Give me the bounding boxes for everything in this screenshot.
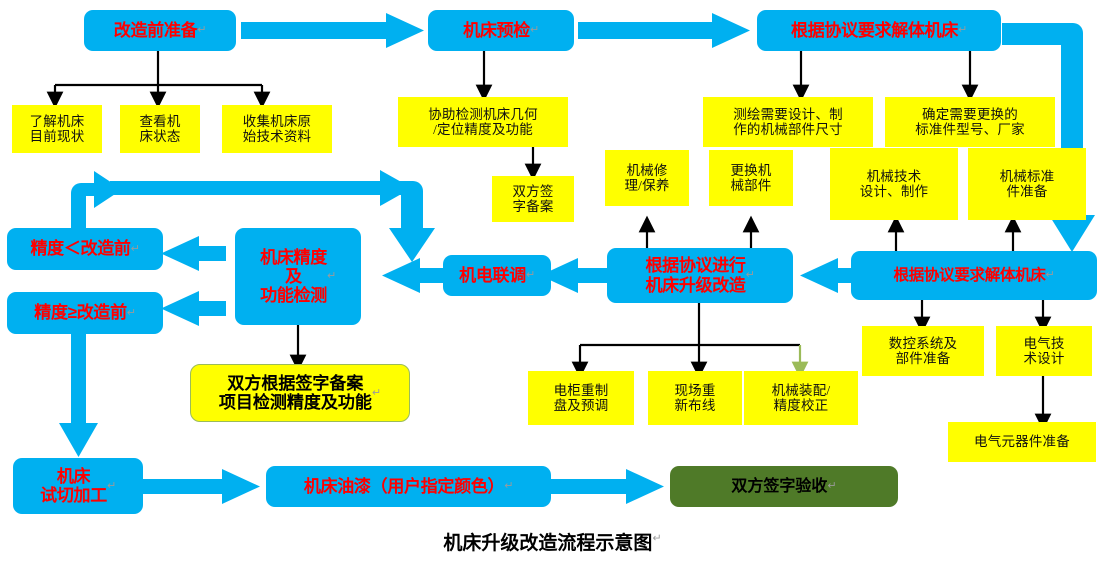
arrow-loop-down-elbow bbox=[389, 181, 435, 262]
node-sign-record-label: 双方根据签字备案 项目检测精度及功能 bbox=[219, 374, 372, 412]
node-disassemble-top-label: 根据协议要求解体机床 bbox=[791, 21, 958, 40]
arrow-loop-top-long bbox=[110, 170, 412, 206]
arrow-prep-to-children bbox=[55, 51, 262, 100]
arrow-disassemble-right-up bbox=[896, 224, 1013, 251]
node-precheck-1[interactable]: 协助检测机床几何 /定位精度及功能 bbox=[398, 97, 568, 147]
node-cnc-parts[interactable]: 数控系统及 部件准备 bbox=[862, 326, 984, 376]
node-prep-3[interactable]: 收集机床原 始技术资料 bbox=[222, 105, 332, 153]
arrow-trialcut-to-paint bbox=[143, 469, 260, 504]
node-trial-cut[interactable]: 机床 试切加工↵ bbox=[13, 458, 143, 514]
node-precision-less[interactable]: 精度＜改造前↵ bbox=[7, 228, 163, 270]
node-prep-2-label: 查看机 床状态 bbox=[139, 114, 180, 144]
node-precision-less-label: 精度＜改造前 bbox=[30, 239, 130, 258]
flowchart-canvas: 改造前准备↵ 机床预检↵ 根据协议要求解体机床↵ 了解机床 目前现状 查看机 床… bbox=[0, 0, 1105, 561]
node-disassemble-top[interactable]: 根据协议要求解体机床↵ bbox=[757, 10, 1001, 51]
node-paint-label: 机床油漆（用户指定颜色） bbox=[304, 477, 504, 496]
node-prep-2[interactable]: 查看机 床状态 bbox=[120, 105, 200, 153]
arrow-less-loopback-elbow bbox=[71, 171, 122, 228]
node-mech-replace[interactable]: 更换机 械部件 bbox=[709, 150, 793, 206]
node-trial-cut-label: 机床 试切加工 bbox=[40, 467, 107, 505]
arrow-disassemble-to-upgrade bbox=[800, 258, 851, 293]
node-precision-more[interactable]: 精度≥改造前↵ bbox=[7, 292, 163, 334]
node-prep[interactable]: 改造前准备↵ bbox=[84, 10, 236, 51]
node-prep-label: 改造前准备 bbox=[114, 21, 198, 40]
node-cabinet[interactable]: 电柜重制 盘及预调 bbox=[528, 371, 634, 425]
node-mech-standard-parts[interactable]: 机械标准 件准备 bbox=[968, 148, 1086, 220]
node-mech-repair[interactable]: 机械修 理/保养 bbox=[605, 150, 689, 206]
arrow-disassemble-top-children bbox=[801, 51, 970, 93]
node-dis-1-label: 测绘需要设计、制 作的机械部件尺寸 bbox=[733, 107, 843, 137]
arrow-more-to-trialcut bbox=[59, 333, 98, 457]
node-mech-replace-label: 更换机 械部件 bbox=[730, 163, 771, 193]
arrow-disassemble-right-down bbox=[922, 300, 1043, 325]
node-sign-record[interactable]: 双方根据签字备案 项目检测精度及功能↵ bbox=[190, 364, 410, 422]
node-mech-tech-design-label: 机械技术 设计、制作 bbox=[860, 169, 929, 199]
arrow-precheck-to-disassemble bbox=[578, 13, 750, 48]
node-prep-1-label: 了解机床 目前现状 bbox=[30, 114, 85, 144]
node-prep-1[interactable]: 了解机床 目前现状 bbox=[12, 105, 102, 153]
node-electromech-label: 机电联调 bbox=[459, 266, 526, 285]
node-cnc-parts-label: 数控系统及 部件准备 bbox=[889, 336, 958, 366]
node-disassemble-right-label: 根据协议要求解体机床 bbox=[894, 267, 1046, 284]
node-dis-1[interactable]: 测绘需要设计、制 作的机械部件尺寸 bbox=[703, 97, 873, 147]
node-elec-design-label: 电气技 术设计 bbox=[1023, 336, 1064, 366]
node-acceptance[interactable]: 双方签字验收↵ bbox=[670, 466, 898, 507]
node-precheck-1-label: 协助检测机床几何 /定位精度及功能 bbox=[428, 107, 538, 137]
node-assembly[interactable]: 机械装配/ 精度校正 bbox=[744, 371, 858, 425]
node-disassemble-right[interactable]: 根据协议要求解体机床↵ bbox=[851, 251, 1097, 300]
node-rewire-label: 现场重 新布线 bbox=[674, 383, 715, 413]
arrow-electromech-to-precision bbox=[382, 258, 443, 293]
node-elec-design[interactable]: 电气技 术设计 bbox=[996, 326, 1092, 376]
node-precheck-2-label: 双方签 字备案 bbox=[512, 184, 553, 214]
node-precision-test[interactable]: 机床精度 及 功能检测↵ bbox=[235, 228, 361, 325]
node-assembly-label: 机械装配/ 精度校正 bbox=[772, 383, 831, 413]
node-precheck[interactable]: 机床预检↵ bbox=[428, 10, 574, 51]
node-dis-2-label: 确定需要更换的 标准件型号、厂家 bbox=[915, 107, 1025, 137]
node-mech-tech-design[interactable]: 机械技术 设计、制作 bbox=[830, 148, 958, 220]
node-cabinet-label: 电柜重制 盘及预调 bbox=[554, 383, 609, 413]
arrow-paint-to-acceptance bbox=[551, 469, 664, 504]
arrow-prep-to-precheck bbox=[241, 13, 424, 48]
node-upgrade-label: 根据协议进行 机床升级改造 bbox=[645, 256, 745, 294]
node-precision-more-label: 精度≥改造前 bbox=[34, 303, 127, 322]
node-precision-test-label: 机床精度 及 功能检测 bbox=[260, 248, 327, 305]
node-mech-repair-label: 机械修 理/保养 bbox=[624, 163, 669, 193]
page-title-text: 机床升级改造流程示意图 bbox=[443, 533, 652, 554]
node-elec-components-label: 电气元器件准备 bbox=[974, 434, 1070, 449]
page-title: 机床升级改造流程示意图↵ bbox=[0, 528, 1105, 555]
node-precheck-2[interactable]: 双方签 字备案 bbox=[492, 176, 574, 222]
node-upgrade[interactable]: 根据协议进行 机床升级改造↵ bbox=[607, 248, 793, 303]
node-precheck-label: 机床预检 bbox=[463, 21, 530, 40]
node-electromech[interactable]: 机电联调↵ bbox=[443, 255, 551, 296]
arrow-precision-to-less bbox=[161, 236, 226, 271]
node-acceptance-label: 双方签字验收 bbox=[731, 478, 827, 496]
node-dis-2[interactable]: 确定需要更换的 标准件型号、厂家 bbox=[885, 97, 1055, 147]
arrow-precision-to-more bbox=[161, 291, 226, 326]
arrow-upgrade-to-bottom bbox=[580, 303, 800, 370]
node-paint[interactable]: 机床油漆（用户指定颜色）↵ bbox=[266, 466, 551, 507]
node-rewire[interactable]: 现场重 新布线 bbox=[648, 371, 742, 425]
node-elec-components[interactable]: 电气元器件准备 bbox=[948, 422, 1096, 462]
node-prep-3-label: 收集机床原 始技术资料 bbox=[243, 114, 312, 144]
node-mech-standard-parts-label: 机械标准 件准备 bbox=[1000, 169, 1055, 199]
